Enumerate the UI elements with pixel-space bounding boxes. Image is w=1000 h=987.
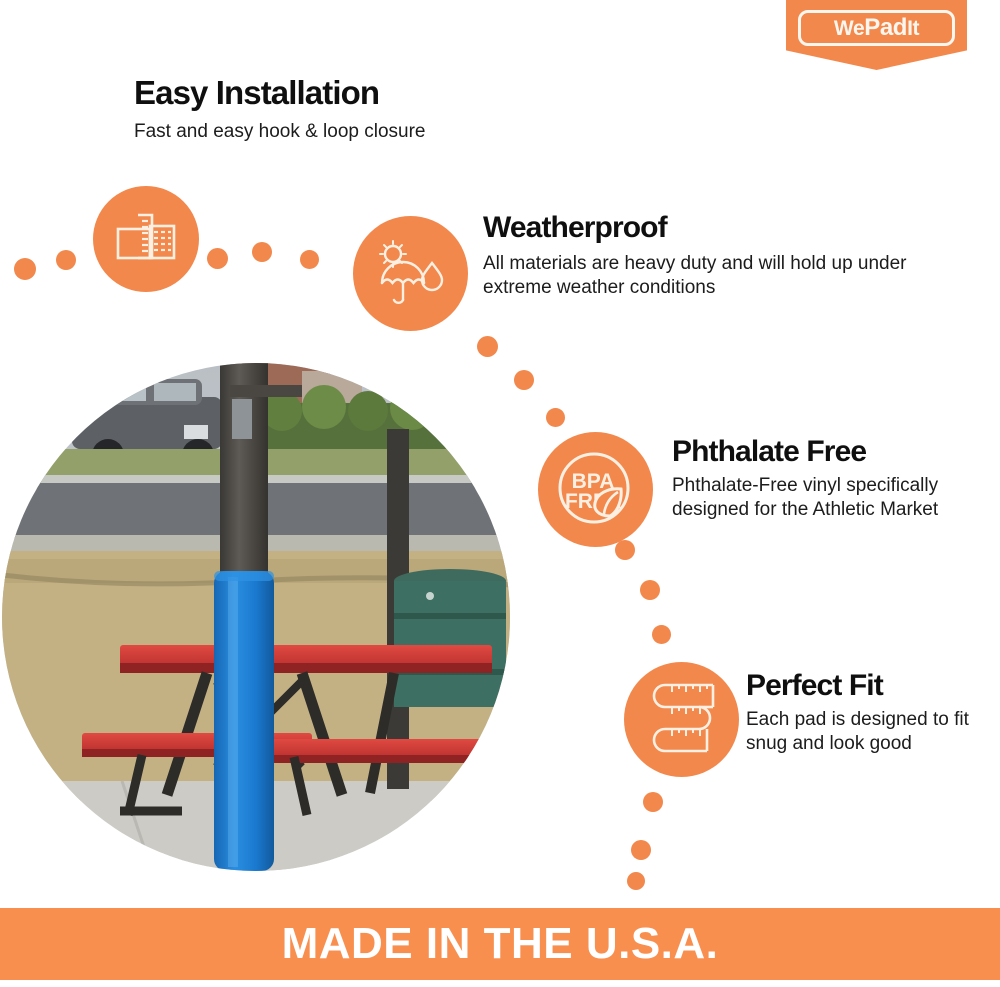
trail-dot — [546, 408, 565, 427]
trail-dot — [477, 336, 498, 357]
feature-description: Each pad is designed to fit snug and loo… — [746, 708, 986, 757]
feature-perfect-fit: Perfect Fit Each pad is designed to fit … — [746, 670, 986, 757]
infographic-page: WePadIt Easy Installation Fast and easy … — [0, 0, 1000, 987]
feature-easy-installation: Easy Installation Fast and easy hook & l… — [134, 76, 554, 144]
trail-dot — [652, 625, 671, 644]
logo-text: WePadIt — [834, 16, 919, 40]
trail-dot — [14, 258, 36, 280]
building-installation-icon — [93, 186, 199, 292]
made-in-usa-banner: MADE IN THE U.S.A. — [0, 908, 1000, 980]
logo-plate: WePadIt — [798, 10, 955, 46]
feature-weatherproof: Weatherproof All materials are heavy dut… — [483, 212, 913, 301]
feature-title: Phthalate Free — [672, 436, 962, 468]
logo-text-pad: Pad — [864, 14, 907, 41]
trail-dot — [207, 248, 228, 269]
feature-description: All materials are heavy duty and will ho… — [483, 252, 913, 301]
logo-text-it: It — [907, 17, 919, 40]
feature-description: Fast and easy hook & loop closure — [134, 120, 554, 145]
trail-dot — [627, 872, 645, 890]
measuring-tape-icon — [624, 662, 739, 777]
trail-dot — [300, 250, 319, 269]
feature-phthalate-free: Phthalate Free Phthalate-Free vinyl spec… — [672, 436, 962, 523]
sun-umbrella-raindrop-icon — [353, 216, 468, 331]
trail-dot — [252, 242, 272, 262]
trail-dot — [643, 792, 663, 812]
trail-dot — [640, 580, 660, 600]
bpa-free-leaf-icon: BPA FREE — [538, 432, 653, 547]
made-in-usa-text: MADE IN THE U.S.A. — [282, 922, 719, 966]
feature-title: Weatherproof — [483, 212, 913, 244]
logo-text-we: We — [834, 17, 864, 40]
feature-description: Phthalate-Free vinyl specifically design… — [672, 474, 962, 523]
feature-title: Perfect Fit — [746, 670, 986, 702]
trail-dot — [514, 370, 534, 390]
product-photo — [2, 363, 510, 871]
trail-dot — [56, 250, 76, 270]
feature-title: Easy Installation — [134, 76, 554, 111]
trail-dot — [615, 540, 635, 560]
brand-logo[interactable]: WePadIt — [786, 0, 967, 70]
trail-dot — [631, 840, 651, 860]
